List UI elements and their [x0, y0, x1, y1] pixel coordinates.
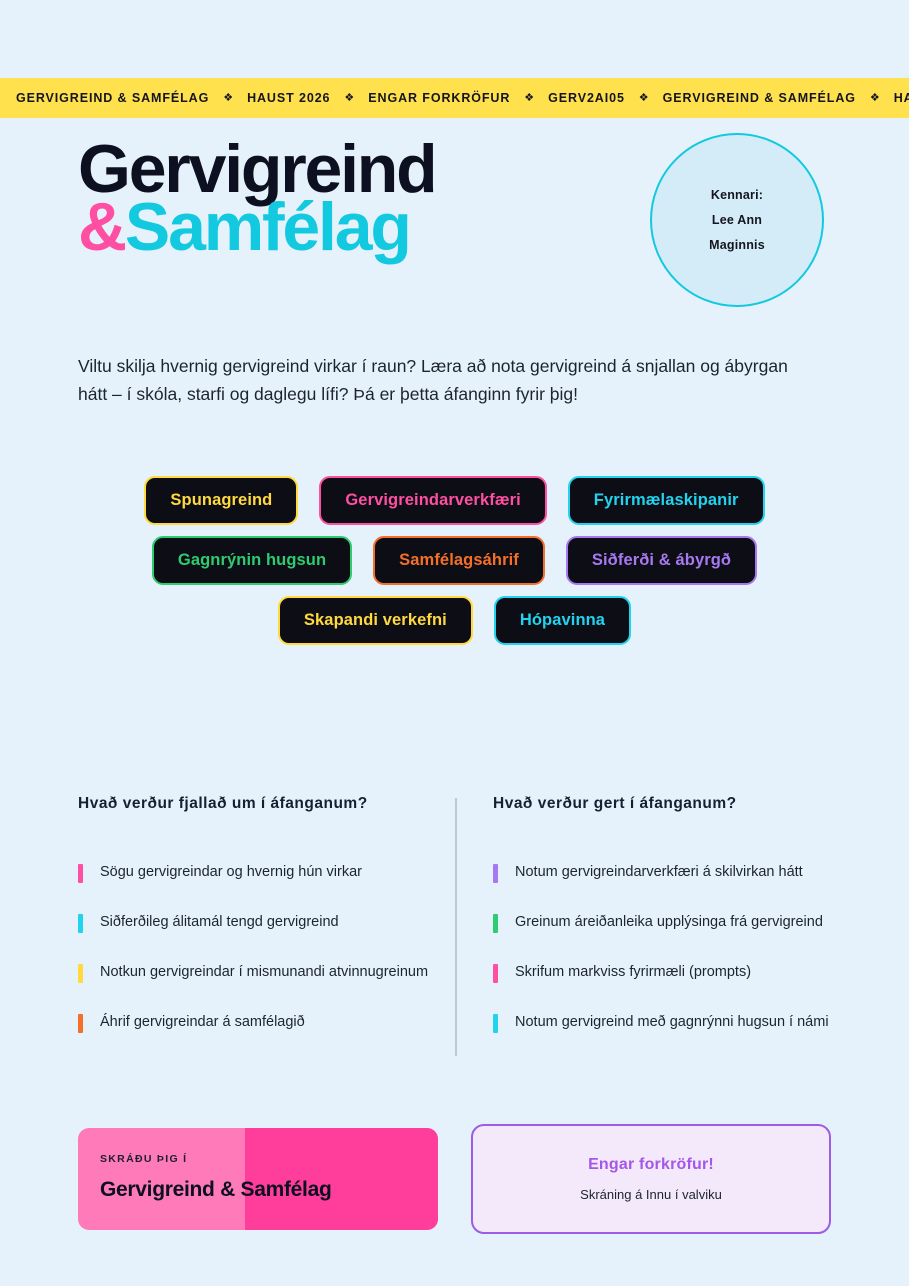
list-item: Notkun gervigreindar í mismunandi atvinn…	[78, 963, 453, 983]
ticker-separator-icon: ❖	[510, 93, 548, 104]
teacher-label: Kennari:	[711, 188, 763, 202]
enroll-card[interactable]: SKRÁÐU ÞIG Í Gervigreind & Samfélag	[78, 1128, 438, 1230]
topic-pill[interactable]: Skapandi verkefni	[278, 596, 473, 645]
list-item: Siðferðileg álitamál tengd gervigreind	[78, 913, 453, 933]
topic-pill[interactable]: Hópavinna	[494, 596, 631, 645]
topic-pill[interactable]: Siðferði & ábyrgð	[566, 536, 757, 585]
bullet-marker-icon	[493, 1014, 498, 1033]
list-item-label: Notum gervigreind með gagnrýnni hugsun í…	[515, 1013, 829, 1032]
list-item: Notum gervigreind með gagnrýnni hugsun í…	[493, 1013, 868, 1033]
column-topics-list: Sögu gervigreindar og hvernig hún virkar…	[78, 863, 453, 1033]
ticker-item: HAUST 2026	[247, 91, 330, 105]
bullet-marker-icon	[493, 864, 498, 883]
requirements-subtitle: Skráning á Innu í valviku	[580, 1187, 722, 1202]
teacher-first-name: Lee Ann	[712, 213, 762, 227]
enroll-card-kicker: SKRÁÐU ÞIG Í	[100, 1153, 187, 1165]
list-item: Áhrif gervigreindar á samfélagið	[78, 1013, 453, 1033]
pill-row: Skapandi verkefniHópavinna	[78, 596, 831, 645]
info-columns: Hvað verður fjallað um í áfanganum? Sögu…	[78, 795, 868, 1063]
column-activities-heading: Hvað verður gert í áfanganum?	[493, 795, 868, 813]
bullet-marker-icon	[493, 914, 498, 933]
list-item: Greinum áreiðanleika upplýsinga frá gerv…	[493, 913, 868, 933]
column-topics-heading: Hvað verður fjallað um í áfanganum?	[78, 795, 453, 813]
ticker-separator-icon: ❖	[625, 93, 663, 104]
title-samfelag: Samfélag	[125, 189, 410, 265]
ticker-item: ENGAR FORKRÖFUR	[368, 91, 510, 105]
list-item-label: Notum gervigreindarverkfæri á skilvirkan…	[515, 863, 803, 882]
topic-pill[interactable]: Gervigreindarverkfæri	[319, 476, 546, 525]
list-item-label: Sögu gervigreindar og hvernig hún virkar	[100, 863, 362, 882]
bullet-marker-icon	[78, 864, 83, 883]
list-item: Notum gervigreindarverkfæri á skilvirkan…	[493, 863, 868, 883]
ticker-separator-icon: ❖	[209, 93, 247, 104]
pill-row: SpunagreindGervigreindarverkfæriFyrirmæl…	[78, 476, 831, 525]
title-ampersand: &	[78, 189, 125, 265]
topic-pills: SpunagreindGervigreindarverkfæriFyrirmæl…	[78, 476, 831, 656]
bullet-marker-icon	[78, 964, 83, 983]
ticker-banner: GERVIGREIND & SAMFÉLAG❖HAUST 2026❖ENGAR …	[0, 78, 909, 118]
topic-pill[interactable]: Spunagreind	[144, 476, 298, 525]
ticker-item: GERV2AI05	[548, 91, 625, 105]
enroll-card-title: Gervigreind & Samfélag	[100, 1178, 331, 1202]
intro-paragraph: Viltu skilja hvernig gervigreind virkar …	[78, 352, 788, 409]
teacher-badge: Kennari: Lee Ann Maginnis	[650, 133, 824, 307]
topic-pill[interactable]: Gagnrýnin hugsun	[152, 536, 352, 585]
teacher-last-name: Maginnis	[709, 238, 765, 252]
topic-pill[interactable]: Fyrirmælaskipanir	[568, 476, 765, 525]
list-item-label: Notkun gervigreindar í mismunandi atvinn…	[100, 963, 428, 982]
column-topics: Hvað verður fjallað um í áfanganum? Sögu…	[78, 795, 453, 1063]
pill-row: Gagnrýnin hugsunSamfélagsáhrifSiðferði &…	[78, 536, 831, 585]
column-activities-list: Notum gervigreindarverkfæri á skilvirkan…	[493, 863, 868, 1033]
requirements-title: Engar forkröfur!	[588, 1156, 714, 1174]
list-item: Skrifum markviss fyrirmæli (prompts)	[493, 963, 868, 983]
bullet-marker-icon	[493, 964, 498, 983]
ticker-item: GERVIGREIND & SAMFÉLAG	[663, 91, 856, 105]
list-item-label: Skrifum markviss fyrirmæli (prompts)	[515, 963, 751, 982]
ticker-separator-icon: ❖	[330, 93, 368, 104]
ticker-separator-icon: ❖	[856, 93, 894, 104]
topic-pill[interactable]: Samfélagsáhrif	[373, 536, 545, 585]
ticker-track: GERVIGREIND & SAMFÉLAG❖HAUST 2026❖ENGAR …	[0, 91, 909, 105]
bullet-marker-icon	[78, 914, 83, 933]
ticker-item: HAUST 2026	[894, 91, 909, 105]
list-item-label: Siðferðileg álitamál tengd gervigreind	[100, 913, 339, 932]
requirements-card: Engar forkröfur! Skráning á Innu í valvi…	[471, 1124, 831, 1234]
column-activities: Hvað verður gert í áfanganum? Notum gerv…	[493, 795, 868, 1063]
poster-page: GERVIGREIND & SAMFÉLAG❖HAUST 2026❖ENGAR …	[0, 0, 909, 1286]
list-item-label: Áhrif gervigreindar á samfélagið	[100, 1013, 305, 1032]
list-item-label: Greinum áreiðanleika upplýsinga frá gerv…	[515, 913, 823, 932]
list-item: Sögu gervigreindar og hvernig hún virkar	[78, 863, 453, 883]
ticker-item: GERVIGREIND & SAMFÉLAG	[16, 91, 209, 105]
bullet-marker-icon	[78, 1014, 83, 1033]
